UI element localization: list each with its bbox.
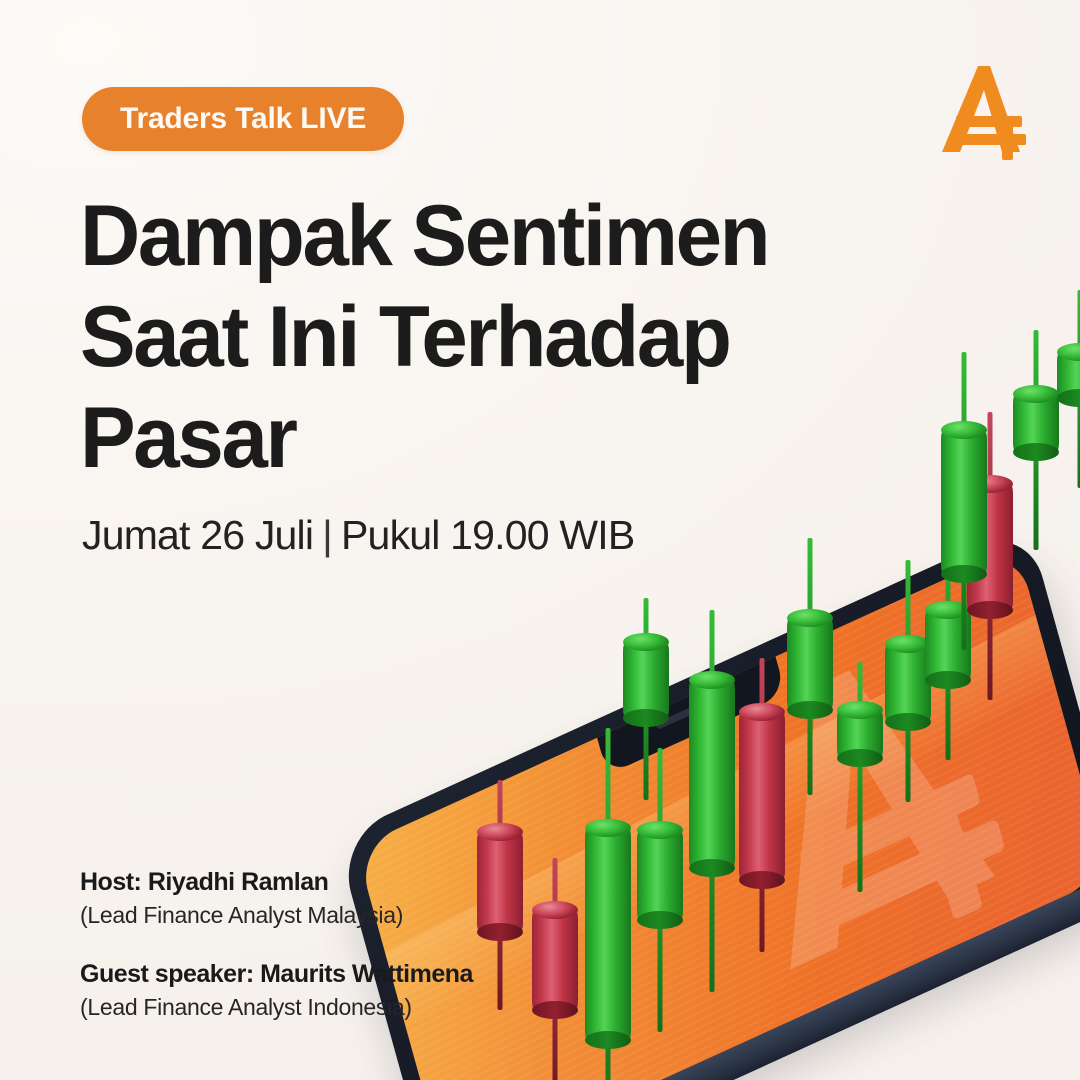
candle-top-cap [623,633,669,651]
candle-15-bullish [1057,580,1080,581]
candle-3-bullish [585,580,631,581]
page-title: Dampak Sentimen Saat Ini Terhadap Pasar [80,186,817,489]
schedule-date: Jumat 26 Juli [82,512,313,558]
headline-line-3: Pasar [80,388,817,489]
schedule-time: Pukul 19.00 WIB [341,512,634,558]
promo-poster: Traders Talk LIVE Dampak Sentimen Saat I… [0,0,1080,1080]
credit-host-name: Host: Riyadhi Ramlan [80,866,473,899]
candle-9-bullish [837,580,883,581]
candle-2-bearish [532,580,578,581]
live-badge-label: Traders Talk LIVE [120,102,366,136]
speaker-credits: Host: Riyadhi Ramlan (Lead Finance Analy… [80,866,473,1024]
candle-5-bullish [689,580,735,581]
credit-guest-role: (Lead Finance Analyst Indonesia) [80,991,473,1024]
phone-speaker [656,693,725,731]
headline-line-2: Saat Ini Terhadap [80,287,817,388]
candle-8-bullish [787,580,833,581]
live-badge: Traders Talk LIVE [82,87,404,151]
credit-guest: Guest speaker: Maurits Wattimena (Lead F… [80,958,473,1024]
candle-1-bearish [477,580,523,581]
schedule-separator: | [313,512,341,559]
ascend-a-logo-icon [930,58,1036,162]
candle-4-bullish [637,580,683,581]
credit-host-role: (Lead Finance Analyst Malaysia) [80,899,473,932]
headline-line-1: Dampak Sentimen [80,186,817,287]
credit-guest-name: Guest speaker: Maurits Wattimena [80,958,473,991]
candle-6-bearish [739,580,785,581]
schedule-line: Jumat 26 Juli|Pukul 19.00 WIB [82,512,634,559]
candle-7-bullish [623,580,669,581]
credit-host: Host: Riyadhi Ramlan (Lead Finance Analy… [80,866,473,932]
